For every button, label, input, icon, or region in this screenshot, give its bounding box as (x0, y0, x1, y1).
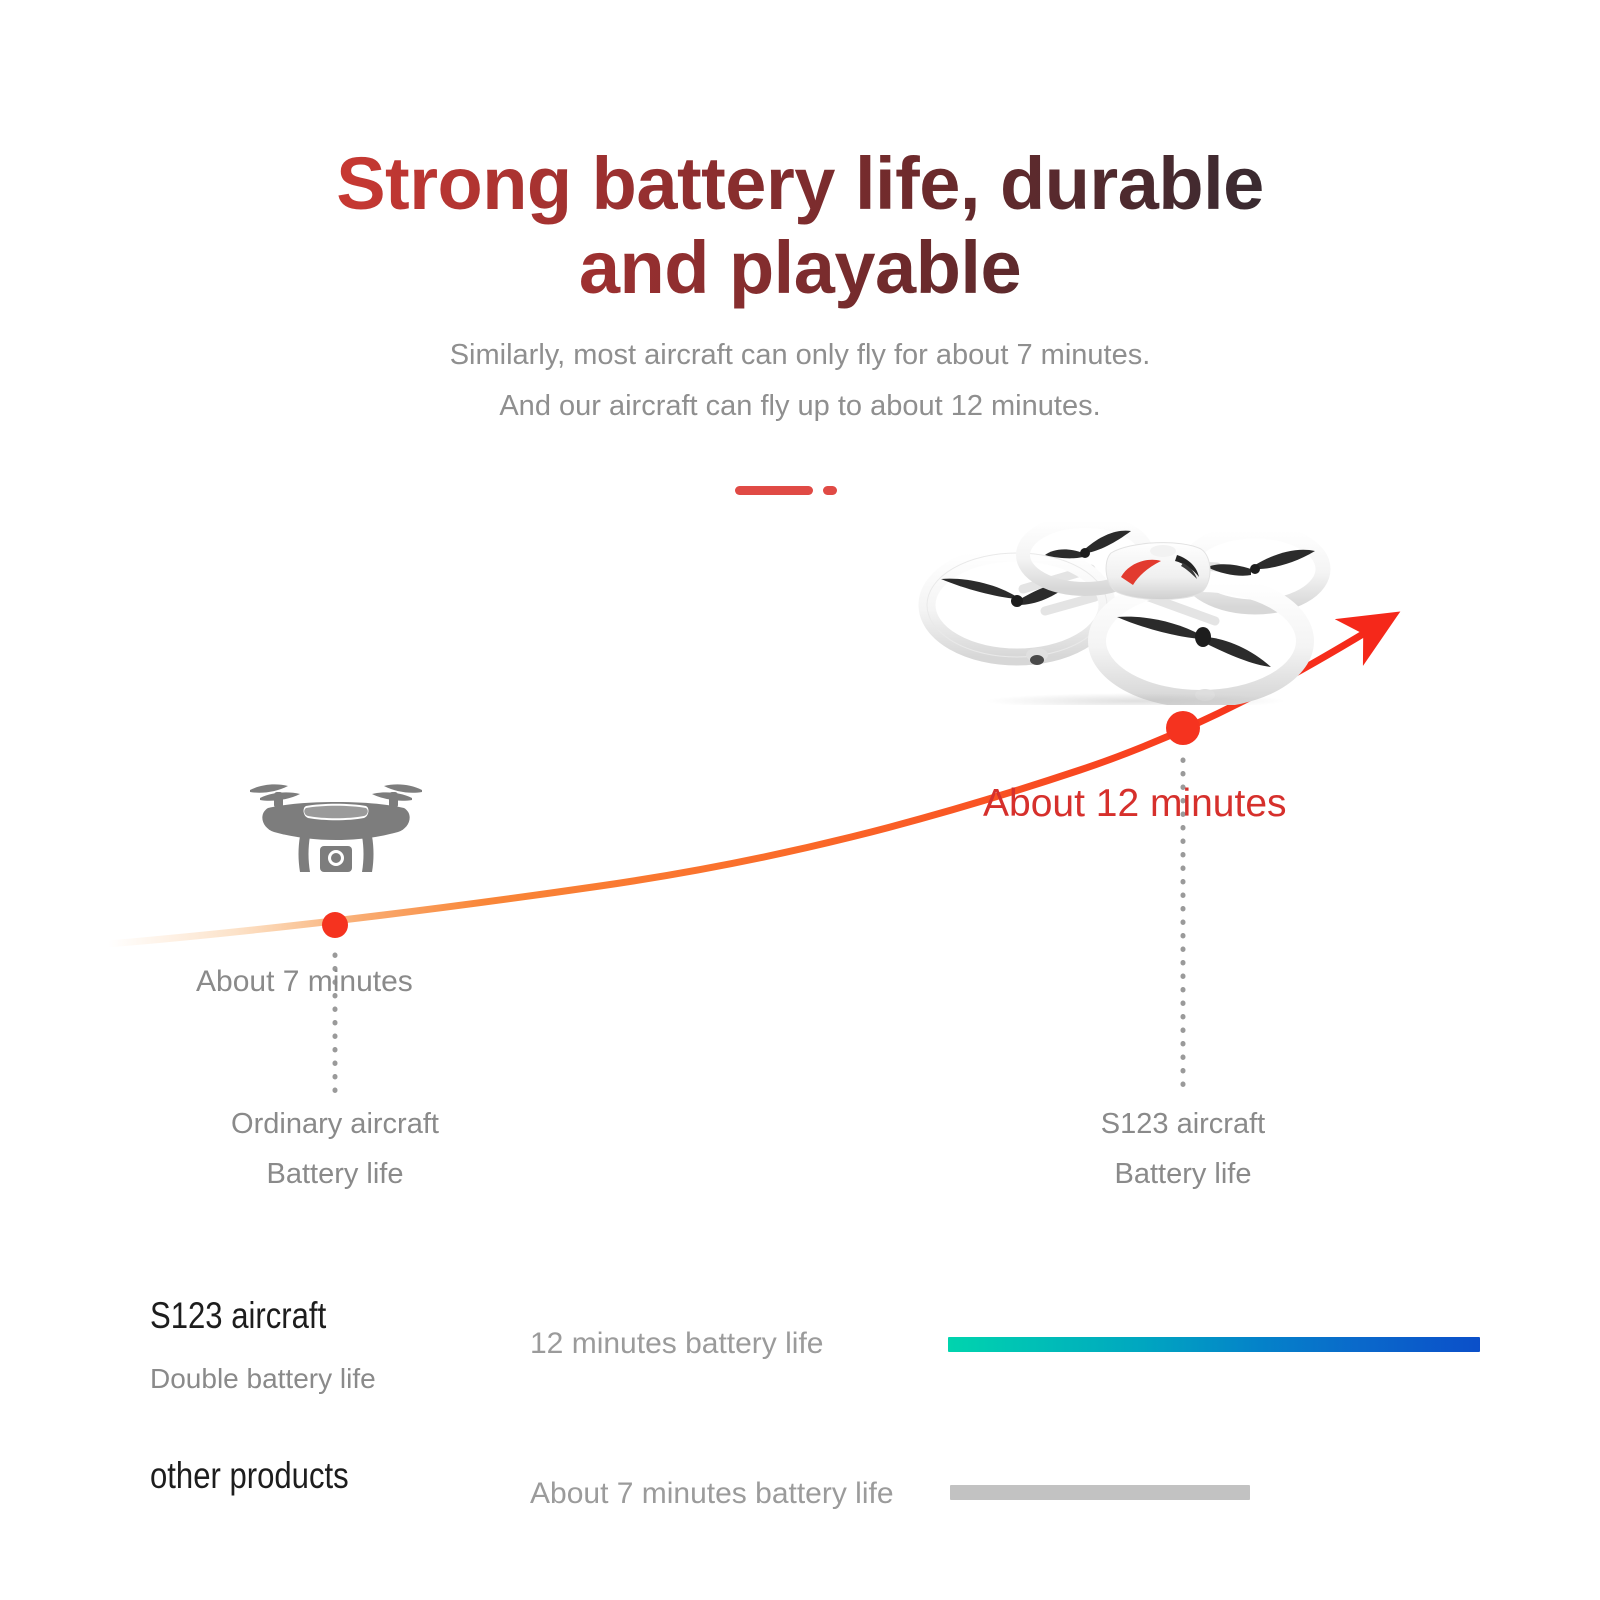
axis-label-ordinary-aircraft: Ordinary aircraft Battery life (231, 1100, 439, 1200)
page-title-line-1: Strong battery life, durable (336, 142, 1264, 225)
label-about-7-minutes: About 7 minutes (196, 965, 413, 999)
axis-label-ordinary-line-1: Ordinary aircraft (231, 1100, 439, 1150)
drone-propeller-front (1117, 617, 1271, 667)
comparison-bar-other (950, 1485, 1250, 1500)
drone-propeller-top-right (1207, 550, 1315, 576)
page-subtitle-line-2: And our aircraft can fly up to about 12 … (0, 381, 1600, 432)
divider-dash-long-icon (735, 486, 813, 495)
page-title-line-2: and playable (0, 226, 1600, 310)
comparison-desc-other: About 7 minutes battery life (530, 1477, 894, 1511)
comparison-bar-s123 (948, 1337, 1480, 1352)
comparison-row-s123: S123 aircraft Double battery life 12 min… (0, 1295, 1600, 1425)
comparison-desc-s123: 12 minutes battery life (530, 1327, 823, 1361)
comparison-sub-s123: Double battery life (150, 1363, 376, 1395)
data-point-s123-aircraft (1166, 711, 1200, 745)
page-subtitle: Similarly, most aircraft can only fly fo… (0, 330, 1600, 432)
page-subtitle-line-1: Similarly, most aircraft can only fly fo… (0, 330, 1600, 381)
divider-dash-dot-icon (823, 486, 837, 495)
drone-rotor-ring-rear-left (927, 553, 1107, 665)
drone-body (1106, 543, 1210, 600)
axis-label-s123-line-1: S123 aircraft (1101, 1100, 1265, 1150)
comparison-name-s123: S123 aircraft (150, 1295, 326, 1337)
axis-label-s123-line-2: Battery life (1101, 1150, 1265, 1200)
comparison-row-other: other products About 7 minutes battery l… (0, 1455, 1600, 1585)
label-about-12-minutes: About 12 minutes (983, 782, 1287, 826)
comparison-name-other: other products (150, 1455, 349, 1497)
axis-label-s123-aircraft: S123 aircraft Battery life (1101, 1100, 1265, 1200)
s123-drone-image (895, 505, 1355, 705)
section-divider-dashes (735, 486, 837, 495)
page-title: Strong battery life, durable and playabl… (0, 142, 1600, 311)
axis-label-ordinary-line-2: Battery life (231, 1150, 439, 1200)
data-point-ordinary-aircraft (322, 912, 348, 938)
ordinary-drone-silhouette (238, 762, 434, 880)
